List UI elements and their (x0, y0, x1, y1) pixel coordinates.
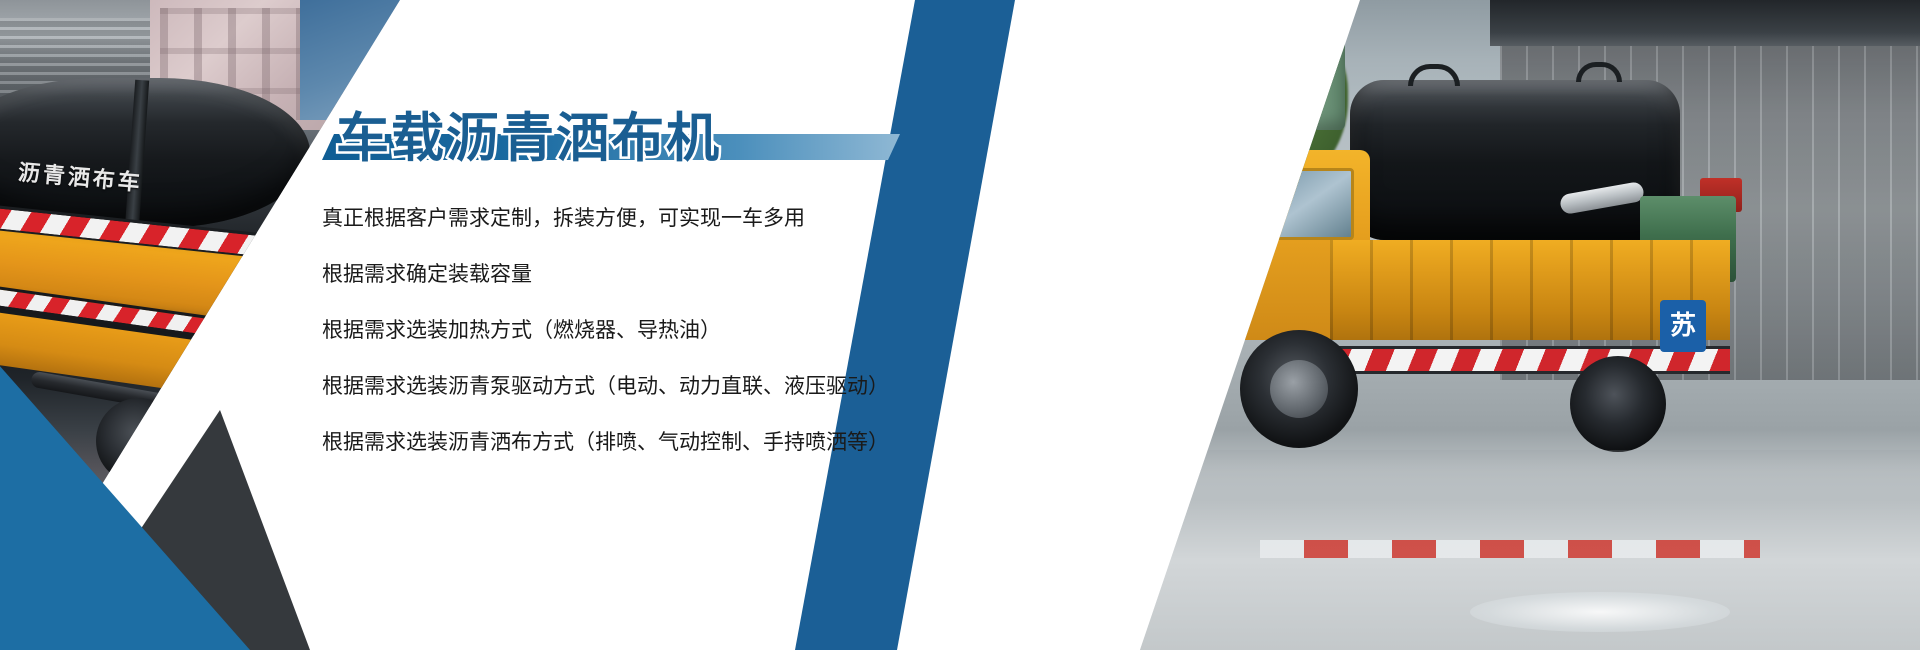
roof-eave (1490, 0, 1920, 46)
list-item: 根据需求选装沥青洒布方式（排喷、气动控制、手持喷洒等） (322, 432, 962, 453)
list-item: 根据需求选装沥青泵驱动方式（电动、动力直联、液压驱动） (322, 376, 962, 397)
truck-logo: 苏 (1660, 300, 1706, 352)
list-item: 根据需求选装加热方式（燃烧器、导热油） (322, 320, 962, 341)
list-item: 根据需求确定装载容量 (322, 264, 962, 285)
page-title: 车载沥青洒布机 (336, 96, 721, 172)
product-banner: 沥青洒布车 苏 (0, 0, 1920, 650)
feature-list: 真正根据客户需求定制，拆装方便，可实现一车多用 根据需求确定装载容量 根据需求选… (322, 208, 962, 453)
water-puddle (1470, 592, 1730, 632)
truck-wheel-front (1240, 330, 1358, 448)
list-item: 真正根据客户需求定制，拆装方便，可实现一车多用 (322, 208, 962, 229)
truck-wheel-rear (1570, 356, 1666, 452)
banner-content: 车载沥青洒布机 真正根据客户需求定制，拆装方便，可实现一车多用 根据需求确定装载… (322, 96, 962, 453)
green-water-tank (1230, 20, 1345, 130)
title-block: 车载沥青洒布机 (322, 96, 962, 174)
cab-window-front (1186, 166, 1262, 242)
tree-foliage-secondary (1140, 120, 1260, 300)
right-product-photo: 苏 (1140, 0, 1920, 650)
cab-window-rear (1276, 168, 1354, 240)
asphalt-tank (1350, 80, 1680, 240)
road-curb (1260, 540, 1760, 558)
